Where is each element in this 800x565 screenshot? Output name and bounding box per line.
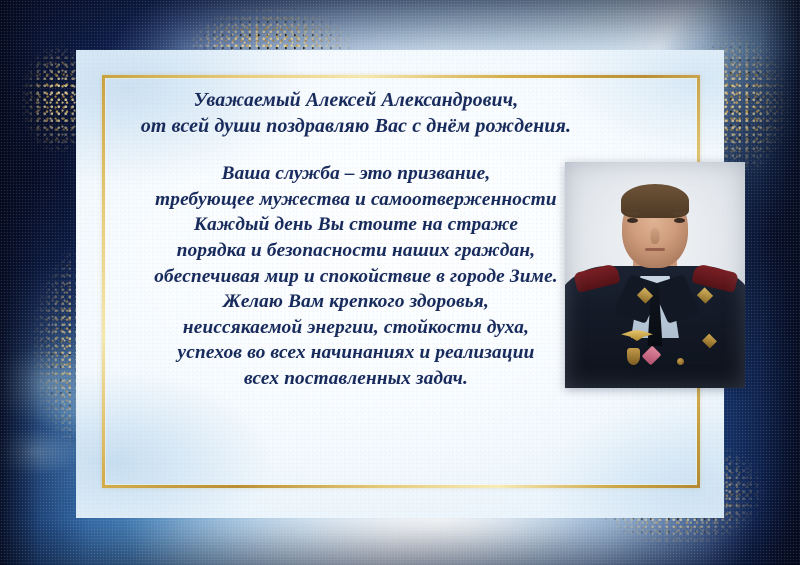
photo-vignette xyxy=(565,162,745,388)
greeting-message: Уважаемый Алексей Александрович, от всей… xyxy=(106,88,606,392)
message-line-3: Ваша служба – это призвание, xyxy=(106,161,606,187)
message-line-1: Уважаемый Алексей Александрович, xyxy=(106,88,606,114)
message-paragraph-gap xyxy=(106,139,606,161)
greeting-card-image: Уважаемый Алексей Александрович, от всей… xyxy=(0,0,800,565)
message-line-10: успехов во всех начинаниях и реализации xyxy=(106,340,606,366)
message-line-5: Каждый день Вы стоите на страже xyxy=(106,212,606,238)
message-line-9: неиссякаемой энергии, стойкости духа, xyxy=(106,315,606,341)
message-line-6: порядка и безопасности наших граждан, xyxy=(106,238,606,264)
message-line-7: обеспечивая мир и спокойствие в городе З… xyxy=(106,264,606,290)
officer-portrait-photo xyxy=(565,162,745,388)
message-line-11: всех поставленных задач. xyxy=(106,366,606,392)
message-line-2: от всей души поздравляю Вас с днём рожде… xyxy=(106,114,606,140)
message-line-4: требующее мужества и самоотверженности xyxy=(106,187,606,213)
message-line-8: Желаю Вам крепкого здоровья, xyxy=(106,289,606,315)
